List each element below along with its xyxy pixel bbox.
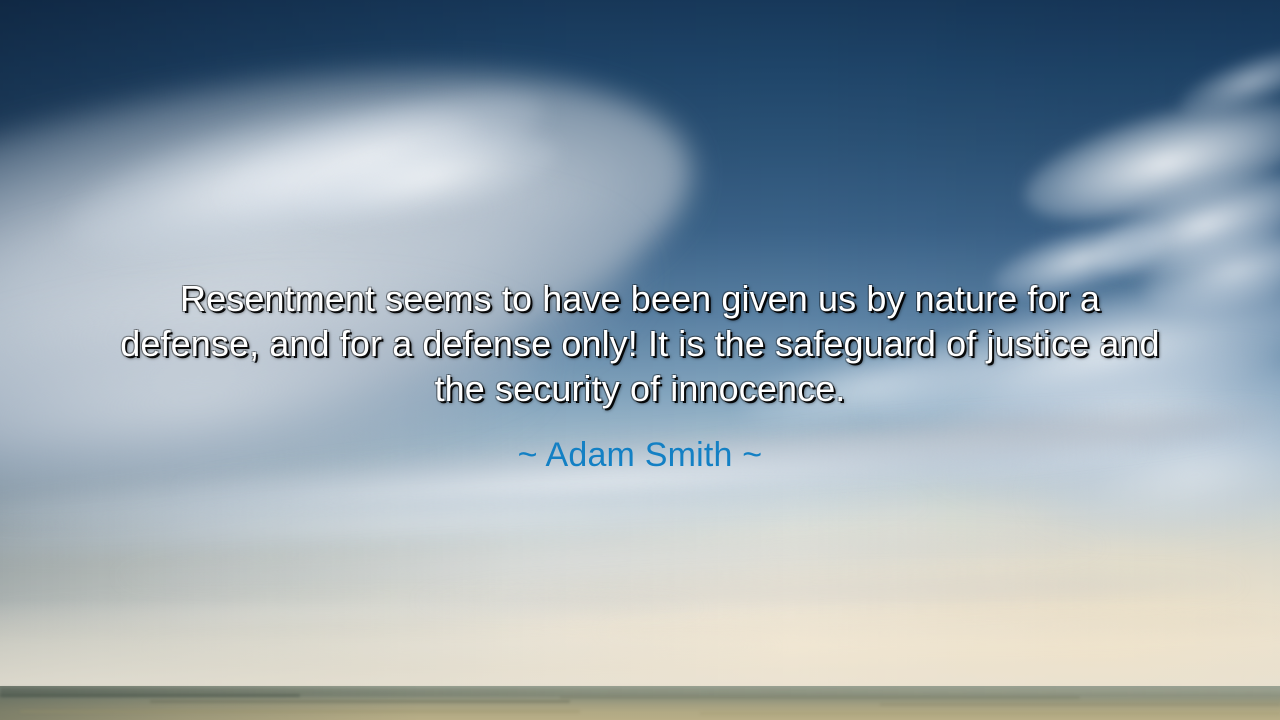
author-attribution: ~ Adam Smith ~ <box>110 435 1170 475</box>
quote-text: Resentment seems to have been given us b… <box>110 276 1170 411</box>
plain-streak <box>150 700 570 703</box>
quote-image-canvas: Resentment seems to have been given us b… <box>0 0 1280 720</box>
author-block: ~ Adam Smith ~ <box>110 435 1170 475</box>
plain-streak <box>0 694 300 697</box>
quote-block: Resentment seems to have been given us b… <box>110 276 1170 411</box>
plain-left-shadow <box>0 686 420 720</box>
plain-streak <box>700 712 1280 715</box>
plain-streak <box>880 703 1280 706</box>
plain-streak <box>20 710 580 713</box>
plain-streak <box>560 696 1080 699</box>
